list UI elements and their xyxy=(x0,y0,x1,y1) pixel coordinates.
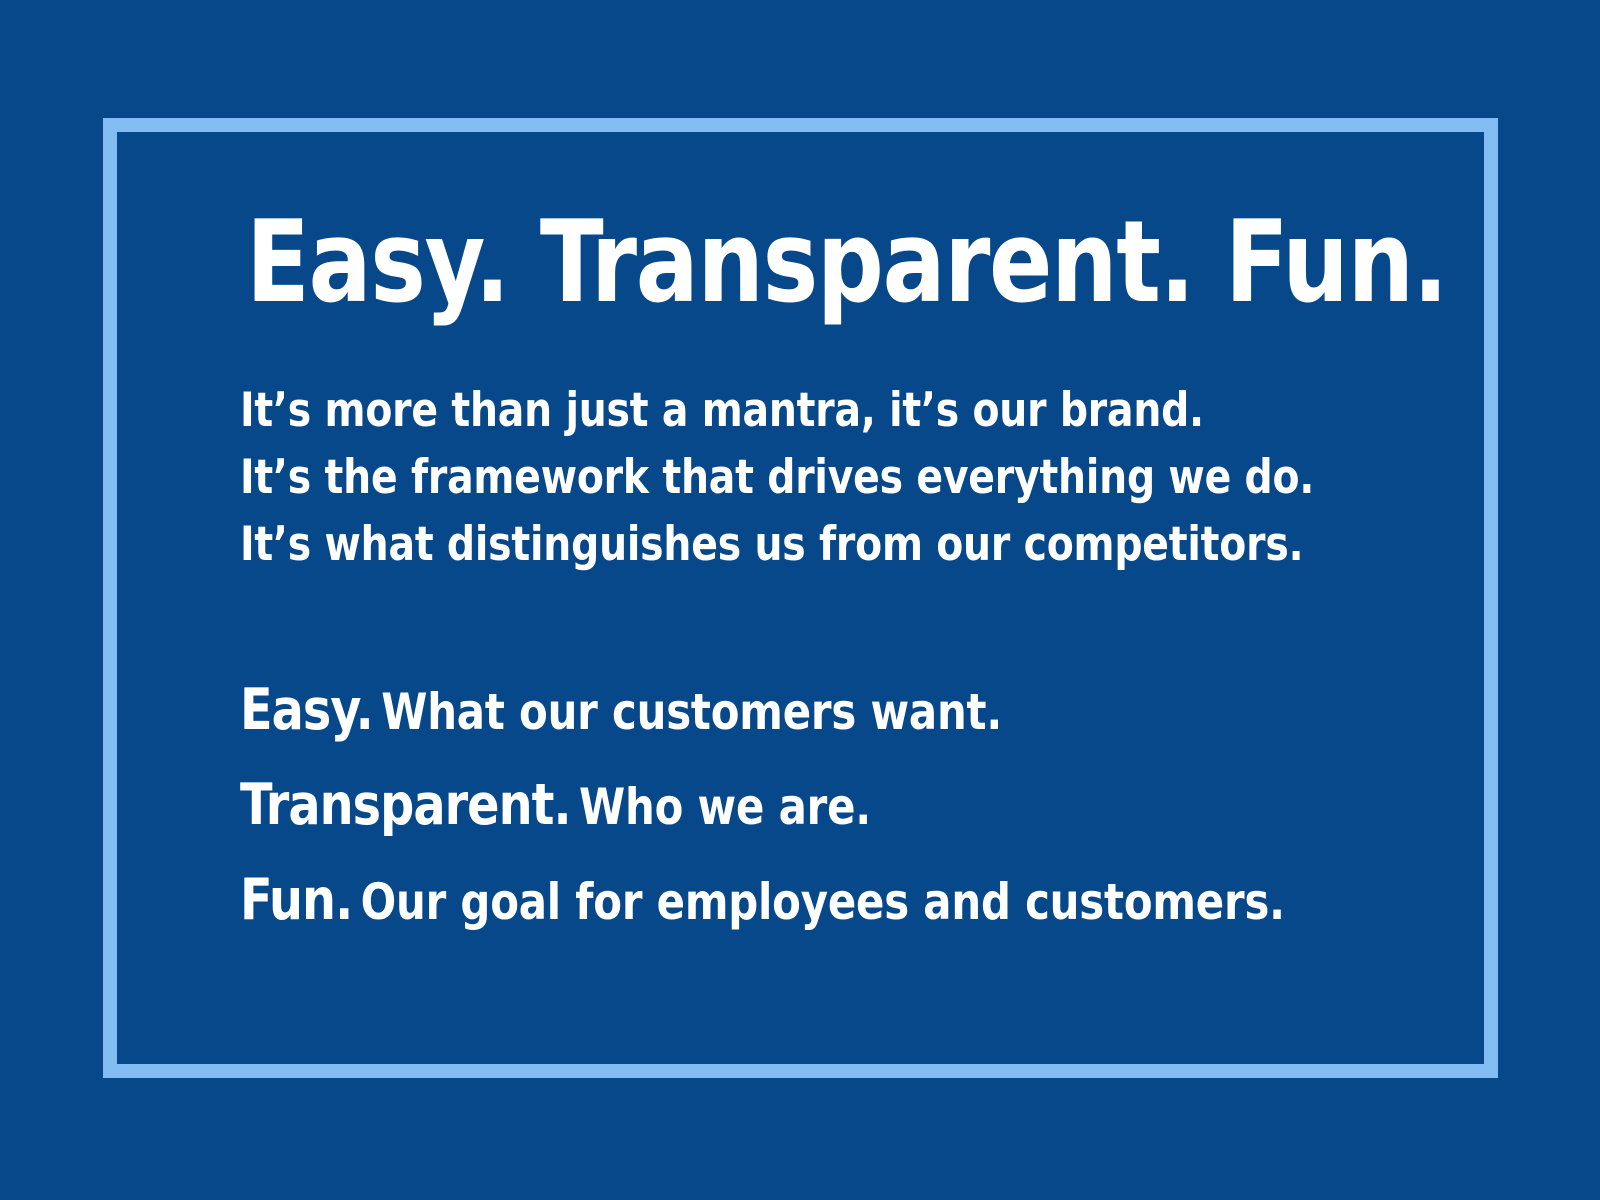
pillar-description-fun: Our goal for employees and customers. xyxy=(361,873,1285,931)
pillar-description-easy: What our customers want. xyxy=(381,683,1002,741)
intro-line-1: It’s more than just a mantra, it’s our b… xyxy=(240,377,1337,444)
pillar-description-transparent: Who we are. xyxy=(579,778,871,836)
slide-canvas: Easy. Transparent. Fun. It’s more than j… xyxy=(0,0,1600,1200)
page-title: Easy. Transparent. Fun. xyxy=(246,206,1326,319)
intro-paragraph: It’s more than just a mantra, it’s our b… xyxy=(240,377,1420,578)
intro-line-3: It’s what distinguishes us from our comp… xyxy=(240,511,1337,578)
pillar-item-transparent: Transparent.Who we are. xyxy=(240,765,1337,860)
pillar-term-easy: Easy. xyxy=(240,677,373,743)
pillar-item-fun: Fun.Our goal for employees and customers… xyxy=(240,860,1337,955)
pillar-item-easy: Easy.What our customers want. xyxy=(240,670,1337,765)
pillar-term-fun: Fun. xyxy=(240,867,352,933)
pillar-list: Easy.What our customers want. Transparen… xyxy=(240,670,1420,955)
slide-content: Easy. Transparent. Fun. It’s more than j… xyxy=(240,206,1420,955)
intro-line-2: It’s the framework that drives everythin… xyxy=(240,444,1337,511)
pillar-term-transparent: Transparent. xyxy=(240,772,571,838)
